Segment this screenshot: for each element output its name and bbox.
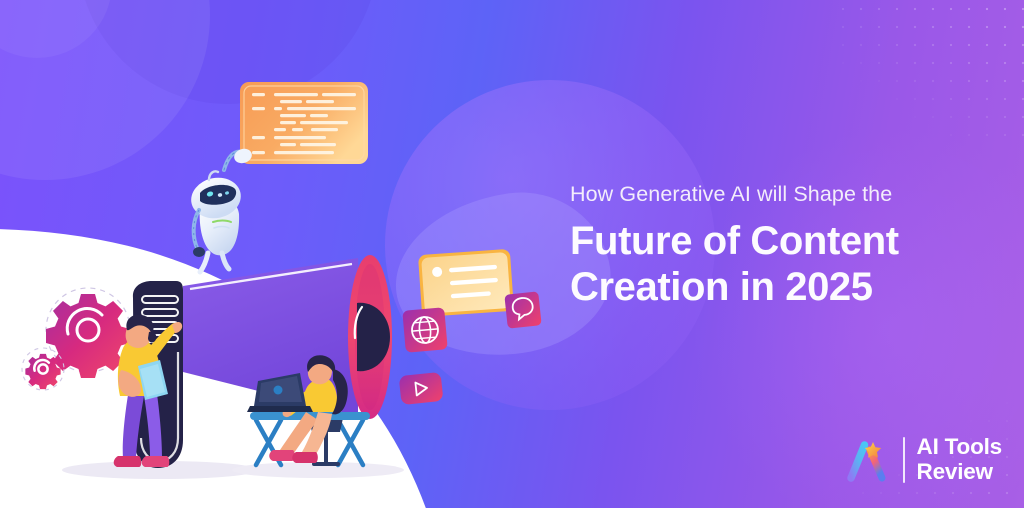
globe-icon xyxy=(402,307,448,353)
banner-image: How Generative AI will Shape the Future … xyxy=(0,0,1024,508)
gear-icon xyxy=(46,288,130,378)
play-video-icon xyxy=(399,372,444,405)
dot-grid-pattern xyxy=(834,0,1024,150)
kicker-text: How Generative AI will Shape the xyxy=(570,182,1010,207)
code-card-icon xyxy=(240,82,368,164)
headline-block: How Generative AI will Shape the Future … xyxy=(570,182,1010,311)
ai-star-a-logo-icon xyxy=(843,436,891,484)
brand-logo[interactable]: AI Tools Review xyxy=(843,435,1002,484)
robot-icon xyxy=(187,147,253,272)
title-line-2: Creation in 2025 xyxy=(570,264,1010,310)
gear-icon xyxy=(22,348,64,390)
hero-illustration xyxy=(0,0,560,508)
title-line-1: Future of Content xyxy=(570,219,899,263)
brand-name-line-1: AI Tools xyxy=(917,435,1002,459)
logo-divider xyxy=(903,437,905,483)
chat-bubble-icon xyxy=(504,291,541,328)
brand-name-line-2: Review xyxy=(917,460,1002,484)
page-title: Future of Content Creation in 2025 xyxy=(570,218,1010,311)
brand-name: AI Tools Review xyxy=(917,435,1002,484)
message-card-icon xyxy=(418,249,514,317)
